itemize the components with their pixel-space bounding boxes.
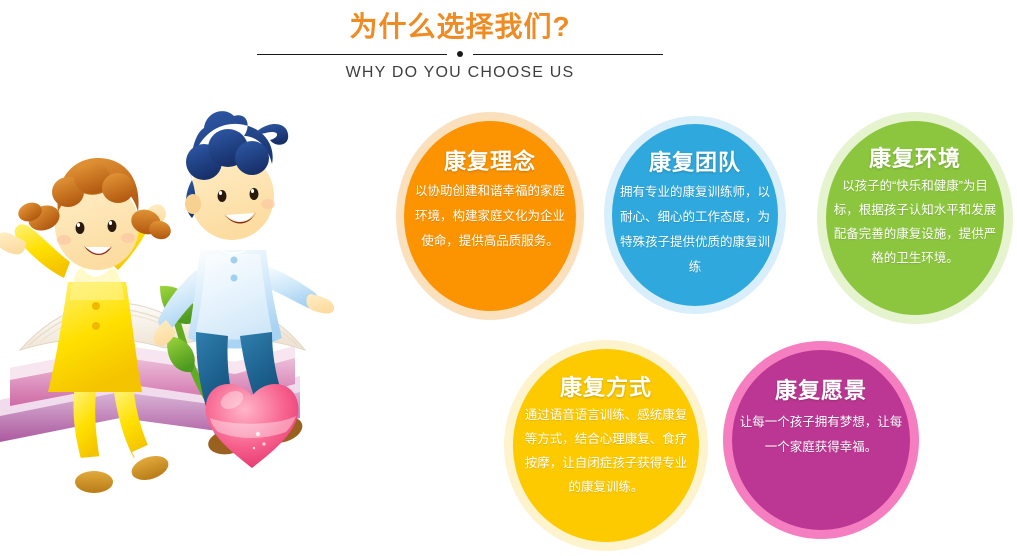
feature-bubble-team-title: 康复团队 [649,150,741,176]
feature-bubble-environment[interactable]: 康复环境 以孩子的“快乐和健康”为目标，根据孩子认知水平和发展配备完善的康复设施… [817,112,1013,324]
title-divider [257,51,663,59]
feature-bubble-team-inner: 康复团队 拥有专业的康复训练师，以耐心、细心的工作态度，为特殊孩子提供优质的康复… [612,124,778,306]
feature-bubble-concept-title: 康复理念 [444,149,536,175]
feature-bubble-method[interactable]: 康复方式 通过语音语言训练、感统康复等方式，结合心理康复、食疗按摩，让自闭症孩子… [504,340,708,551]
page-subtitle: WHY DO YOU CHOOSE US [258,64,662,82]
divider-rule-left [257,54,447,55]
divider-dot-icon [457,51,463,57]
feature-bubble-vision-inner: 康复愿景 让每一个孩子拥有梦想，让每一个家庭获得幸福。 [732,350,910,530]
feature-bubble-vision-body: 让每一个孩子拥有梦想，让每一个家庭获得幸福。 [738,410,904,460]
page-title: 为什么选择我们? [258,10,662,44]
heart-icon [206,384,299,468]
feature-bubble-concept-inner: 康复理念 以协助创建和谐幸福的家庭环境，构建家庭文化为企业使命，提供高品质服务。 [404,121,576,311]
page-header: 为什么选择我们? WHY DO YOU CHOOSE US [0,0,1017,100]
divider-rule-right [473,54,663,55]
feature-bubble-team-body: 拥有专业的康复训练师，以耐心、细心的工作态度，为特殊孩子提供优质的康复训练 [620,180,770,280]
feature-bubble-method-title: 康复方式 [560,375,652,401]
illustration-svg [0,100,400,551]
feature-bubble-environment-title: 康复环境 [869,146,961,172]
feature-bubble-vision-title: 康复愿景 [775,378,867,404]
feature-bubble-concept[interactable]: 康复理念 以协助创建和谐幸福的家庭环境，构建家庭文化为企业使命，提供高品质服务。 [396,112,584,320]
feature-bubble-environment-inner: 康复环境 以孩子的“快乐和健康”为目标，根据孩子认知水平和发展配备完善的康复设施… [826,121,1004,315]
feature-bubble-vision[interactable]: 康复愿景 让每一个孩子拥有梦想，让每一个家庭获得幸福。 [723,341,919,539]
feature-bubble-environment-body: 以孩子的“快乐和健康”为目标，根据孩子认知水平和发展配备完善的康复设施，提供严格… [833,174,997,270]
feature-bubble-method-body: 通过语音语言训练、感统康复等方式，结合心理康复、食疗按摩，让自闭症孩子获得专业的… [522,403,690,499]
feature-bubble-method-inner: 康复方式 通过语音语言训练、感统康复等方式，结合心理康复、食疗按摩，让自闭症孩子… [513,349,699,542]
feature-bubble-concept-body: 以协助创建和谐幸福的家庭环境，构建家庭文化为企业使命，提供高品质服务。 [414,179,566,254]
feature-bubble-team[interactable]: 康复团队 拥有专业的康复训练师，以耐心、细心的工作态度，为特殊孩子提供优质的康复… [604,116,786,314]
children-on-books-illustration [0,100,400,551]
